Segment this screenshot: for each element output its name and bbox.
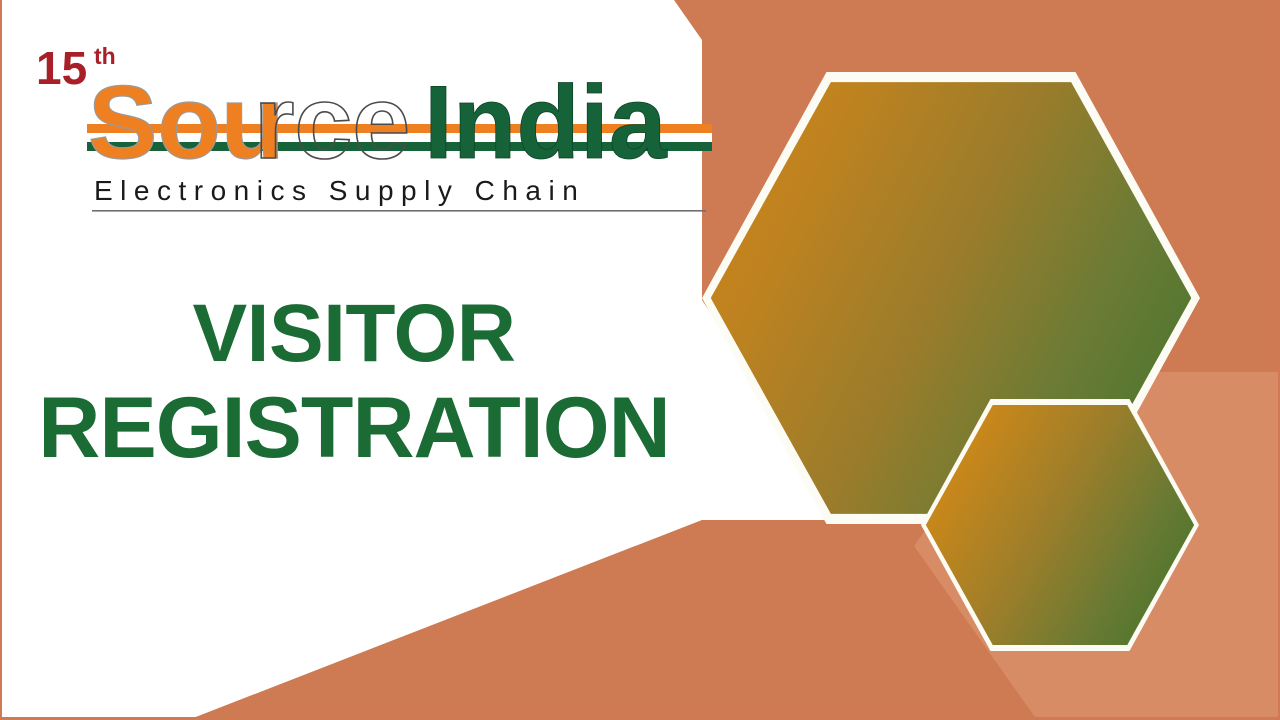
source-india-logo: 15 th Sou rce India Electronics Supply C… [32,28,712,218]
small-hexagon-border [921,399,1199,651]
logo-tagline: Electronics Supply Chain [94,175,585,206]
small-hexagon-fill [926,405,1194,646]
visitor-registration-slide: 15 th Sou rce India Electronics Supply C… [0,0,1280,720]
logo-underline [92,210,706,212]
small-hexagon [921,399,1199,651]
logo-wordmark-india: India [424,65,668,181]
page-title-line-1: VISITOR [24,288,684,380]
page-title: VISITOR REGISTRATION [24,288,684,476]
page-title-line-2: REGISTRATION [24,380,684,476]
logo-edition-number: 15 [36,42,87,94]
logo-wordmark-rce: rce [254,65,410,181]
